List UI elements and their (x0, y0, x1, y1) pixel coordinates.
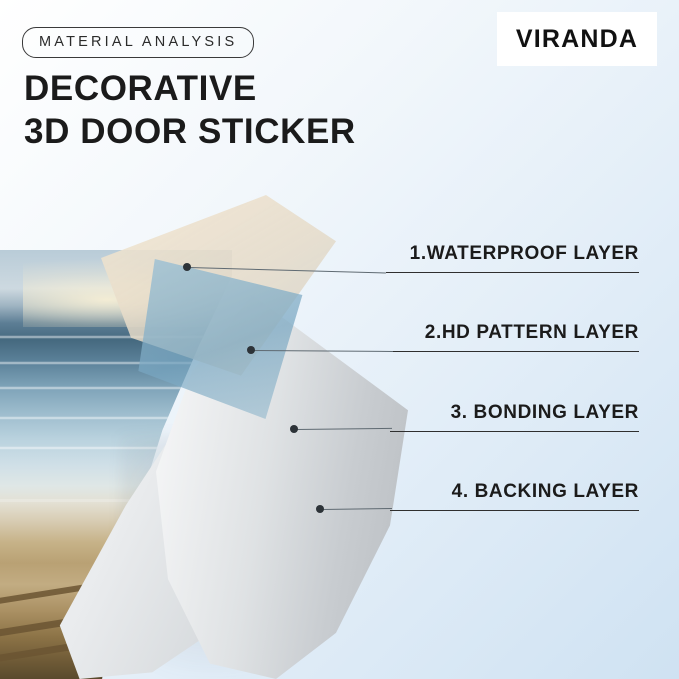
callout-dot-waterproof (183, 263, 191, 271)
callout-label-waterproof: 1.WATERPROOF LAYER (410, 243, 639, 270)
callout-group: 1.WATERPROOF LAYER 2.HD PATTERN LAYER 3.… (0, 0, 679, 679)
poster-canvas: MATERIAL ANALYSIS DECORATIVE 3D DOOR STI… (0, 0, 679, 679)
callout-label-bonding: 3. BONDING LAYER (451, 402, 639, 429)
callout-label-hd-pattern: 2.HD PATTERN LAYER (425, 322, 639, 349)
callout-rule-bonding (390, 431, 639, 432)
callout-rule-waterproof (386, 272, 639, 273)
callout-label-backing: 4. BACKING LAYER (452, 481, 639, 508)
callout-rule-backing (390, 510, 639, 511)
callout-dot-backing (316, 505, 324, 513)
callout-leader-hd-pattern (253, 350, 393, 352)
callout-rule-hd-pattern (392, 351, 639, 352)
callout-dot-bonding (290, 425, 298, 433)
callout-dot-hd-pattern (247, 346, 255, 354)
callout-leader-bonding (296, 428, 392, 430)
callout-leader-backing (322, 508, 392, 510)
callout-leader-waterproof (189, 267, 386, 274)
